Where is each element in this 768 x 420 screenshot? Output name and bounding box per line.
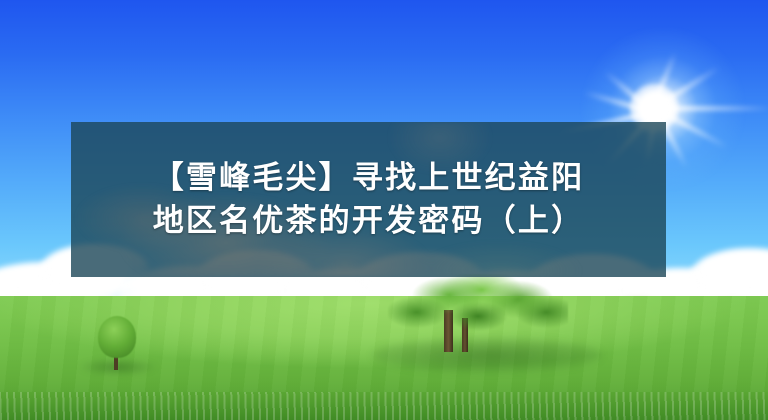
banner-image: 【雪峰毛尖】寻找上世纪益阳 地区名优茶的开发密码（上） [0, 0, 768, 420]
title-overlay-panel: 【雪峰毛尖】寻找上世纪益阳 地区名优茶的开发密码（上） [71, 122, 666, 277]
small-tree-shadow [78, 358, 158, 376]
headline-line-2: 地区名优茶的开发密码（上） [153, 204, 585, 239]
tree-shadow [372, 338, 602, 372]
headline-block: 【雪峰毛尖】寻找上世纪益阳 地区名优茶的开发密码（上） [71, 122, 666, 277]
small-tree-canopy [98, 316, 136, 358]
grass-foreground [0, 392, 768, 420]
tree-canopy [388, 274, 568, 340]
headline-line-1: 【雪峰毛尖】寻找上世纪益阳 [153, 161, 585, 196]
